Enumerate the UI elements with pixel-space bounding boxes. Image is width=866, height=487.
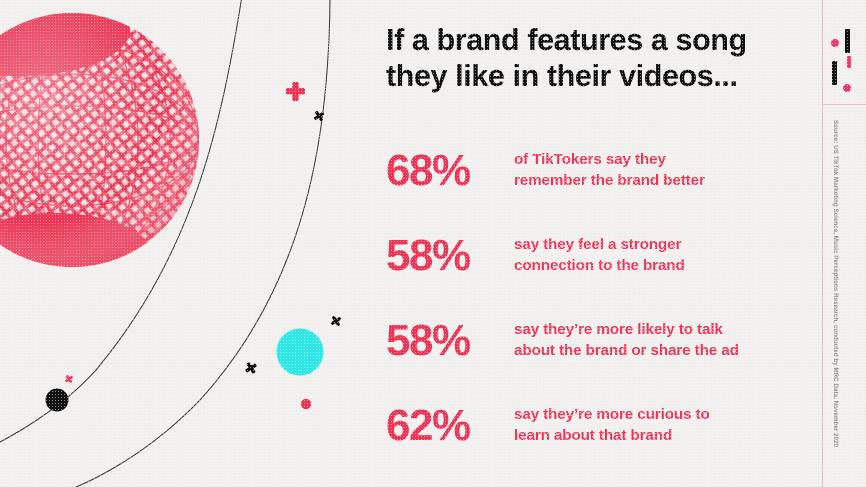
rail-vertical-divider (822, 0, 823, 487)
pink-dot-mark (831, 39, 839, 47)
stat-row: 68% of TikTokers say they remember the b… (386, 128, 816, 213)
stat-description: say they feel a stronger connection to t… (514, 235, 685, 275)
x-mark (330, 315, 342, 327)
stat-percent: 58% (386, 319, 514, 363)
rail-horizontal-divider (822, 104, 866, 105)
source-note-text: Source: US TikTok Marketing Science, Mus… (832, 120, 839, 134)
cosmic-artwork (0, 0, 400, 487)
page-title: If a brand features a song they like in … (386, 22, 806, 95)
red-wireframe-sphere (0, 0, 220, 293)
stat-percent: 68% (386, 149, 514, 193)
black-bar-mark (832, 61, 837, 85)
pink-bar-mark (847, 56, 851, 68)
stat-description: say they’re more curious to learn about … (514, 405, 710, 445)
stat-row: 62% say they’re more curious to learn ab… (386, 383, 816, 468)
black-bar-mark (845, 29, 850, 53)
stat-percent: 58% (386, 234, 514, 278)
infographic-canvas: If a brand features a song they like in … (0, 0, 866, 487)
stat-row: 58% say they’re more likely to talk abou… (386, 298, 816, 383)
cyan-circle (277, 329, 324, 376)
pink-dot-mark (843, 84, 851, 92)
red-plus (286, 82, 305, 101)
stat-row: 58% say they feel a stronger connection … (386, 213, 816, 298)
red-dot (301, 399, 311, 409)
x-mark (244, 361, 257, 374)
source-note: Source: US TikTok Marketing Science, Mus… (828, 120, 842, 480)
stat-description: say they’re more likely to talk about th… (514, 320, 739, 360)
stat-list: 68% of TikTokers say they remember the b… (386, 128, 816, 468)
x-mark-red (64, 374, 73, 383)
stat-percent: 62% (386, 404, 514, 448)
stat-description: of TikTokers say they remember the brand… (514, 150, 705, 190)
black-circle (46, 389, 69, 412)
